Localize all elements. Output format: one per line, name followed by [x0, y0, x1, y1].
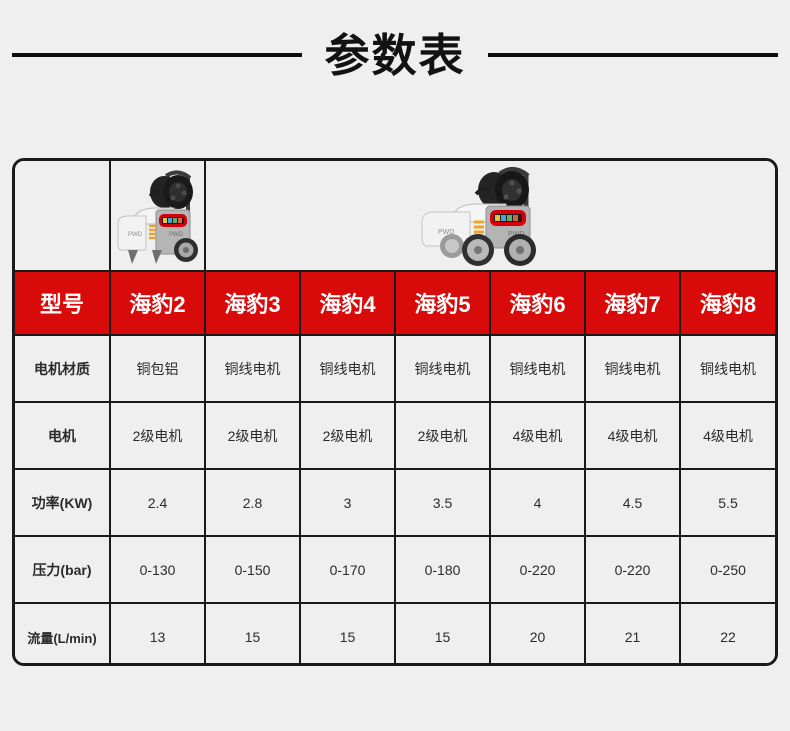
- table-cell: 铜线电机: [490, 335, 585, 402]
- table-cell: 3.5: [395, 469, 490, 536]
- table-cell: 2.8: [205, 469, 300, 536]
- page-title: 参数表: [302, 33, 487, 78]
- table-row: 压力(bar) 0-130 0-150 0-170 0-180 0-220 0-…: [15, 536, 775, 603]
- table-row: 流量(L/min) 13 15 15 15 20 21 22: [15, 603, 775, 666]
- table-cell: 2级电机: [205, 402, 300, 469]
- column-header-6: 海豹7: [585, 271, 680, 335]
- table-cell: 2级电机: [300, 402, 395, 469]
- row-label: 电机: [15, 402, 110, 469]
- table-cell: 0-220: [490, 536, 585, 603]
- table-cell: 4级电机: [585, 402, 680, 469]
- table-cell: 5.5: [680, 469, 775, 536]
- table-row: 电机 2级电机 2级电机 2级电机 2级电机 4级电机 4级电机 4级电机: [15, 402, 775, 469]
- column-header-1: 海豹2: [110, 271, 205, 335]
- table-cell: 铜线电机: [680, 335, 775, 402]
- row-label: 功率(KW): [15, 469, 110, 536]
- column-header-4: 海豹5: [395, 271, 490, 335]
- product-image-cell-large: PWD PWD: [205, 161, 775, 271]
- table-cell: 0-150: [205, 536, 300, 603]
- table-cell: 0-180: [395, 536, 490, 603]
- table-cell: 2级电机: [395, 402, 490, 469]
- table-cell: 4级电机: [680, 402, 775, 469]
- table-cell: 4: [490, 469, 585, 536]
- table-cell: 2级电机: [110, 402, 205, 469]
- pressure-washer-two-wheel-icon: PWD PWD: [111, 161, 204, 270]
- table-cell: 4级电机: [490, 402, 585, 469]
- spec-table-container: PWD PWD: [12, 158, 778, 666]
- image-row-empty-cell: [15, 161, 110, 271]
- table-cell: 0-250: [680, 536, 775, 603]
- table-cell: 0-130: [110, 536, 205, 603]
- table-cell: 15: [300, 603, 395, 666]
- table-cell: 20: [490, 603, 585, 666]
- table-cell: 铜线电机: [585, 335, 680, 402]
- pressure-washer-four-wheel-icon: PWD PWD: [206, 161, 775, 270]
- row-label: 压力(bar): [15, 536, 110, 603]
- table-cell: 3: [300, 469, 395, 536]
- svg-text:PWD: PWD: [169, 232, 184, 238]
- table-row: 电机材质 铜包铝 铜线电机 铜线电机 铜线电机 铜线电机 铜线电机 铜线电机: [15, 335, 775, 402]
- column-header-2: 海豹3: [205, 271, 300, 335]
- table-cell: 铜线电机: [395, 335, 490, 402]
- table-cell: 15: [205, 603, 300, 666]
- table-cell: 13: [110, 603, 205, 666]
- product-image-cell-small: PWD PWD: [110, 161, 205, 271]
- svg-text:PWD: PWD: [128, 232, 143, 238]
- table-cell: 铜线电机: [300, 335, 395, 402]
- table-cell: 22: [680, 603, 775, 666]
- column-header-3: 海豹4: [300, 271, 395, 335]
- column-header-5: 海豹6: [490, 271, 585, 335]
- table-cell: 2.4: [110, 469, 205, 536]
- table-cell: 21: [585, 603, 680, 666]
- table-cell: 铜包铝: [110, 335, 205, 402]
- column-header-0: 型号: [15, 271, 110, 335]
- table-cell: 4.5: [585, 469, 680, 536]
- column-header-7: 海豹8: [680, 271, 775, 335]
- table-cell: 铜线电机: [205, 335, 300, 402]
- table-header-row: 型号 海豹2 海豹3 海豹4 海豹5 海豹6 海豹7 海豹8: [15, 271, 775, 335]
- title-rule-right: [488, 53, 778, 57]
- table-row: 功率(KW) 2.4 2.8 3 3.5 4 4.5 5.5: [15, 469, 775, 536]
- spec-table: PWD PWD: [15, 161, 775, 666]
- page-title-band: 参数表: [0, 0, 790, 110]
- table-cell: 0-220: [585, 536, 680, 603]
- product-image-row: PWD PWD: [15, 161, 775, 271]
- row-label: 流量(L/min): [15, 603, 110, 666]
- table-cell: 0-170: [300, 536, 395, 603]
- row-label: 电机材质: [15, 335, 110, 402]
- title-rule-left: [12, 53, 302, 57]
- table-cell: 15: [395, 603, 490, 666]
